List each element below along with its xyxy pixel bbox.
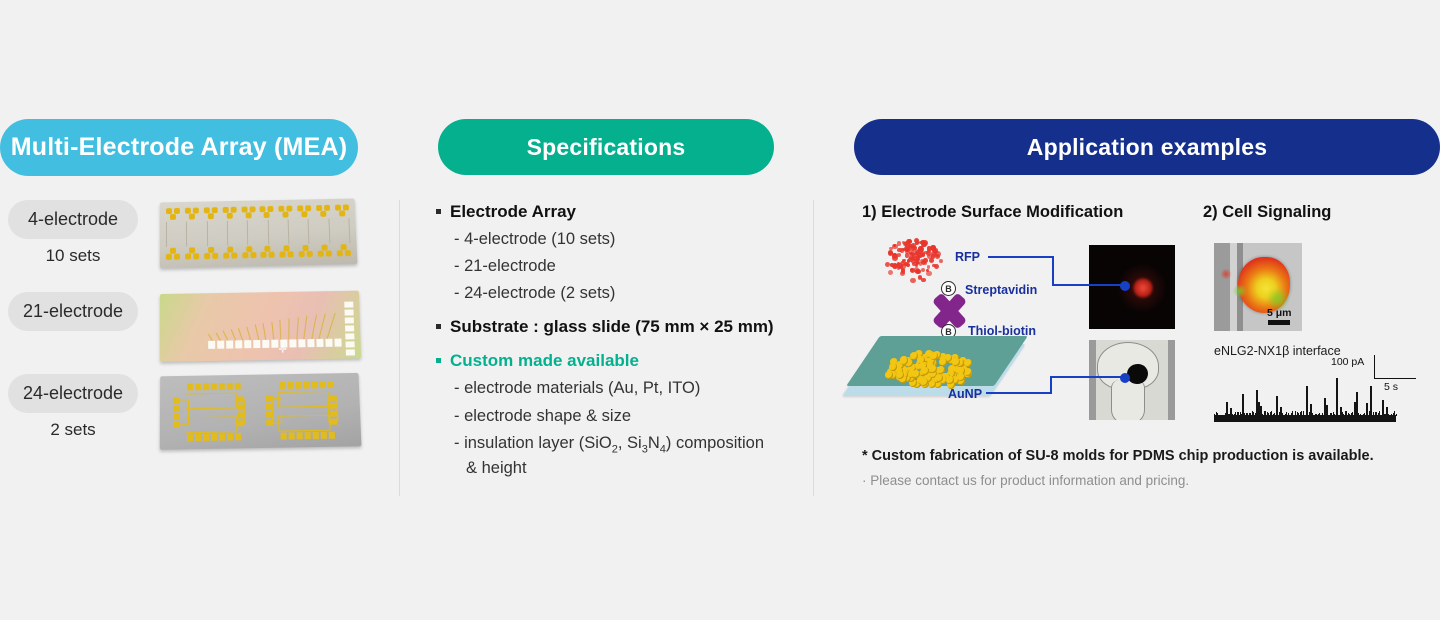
product-info-page: Multi-Electrode Array (MEA) Specificatio… [0, 0, 1440, 620]
column-divider-right [813, 200, 814, 496]
spec-item-insulation: - insulation layer (SiO2, Si3N4) composi… [454, 433, 806, 457]
leader-line [1050, 376, 1126, 378]
mea-variant-row: 4-electrode 10 sets [0, 200, 380, 266]
leader-line [988, 256, 1054, 258]
leader-line [986, 392, 1052, 394]
label-aunp: AuNP [948, 387, 982, 401]
scale-label-time: 5 s [1384, 381, 1398, 393]
mea-variant-tag: 21-electrode [8, 292, 138, 331]
spec-group-heading: Substrate : glass slide (75 mm × 25 mm) [436, 317, 806, 337]
mea-variant-sets: 2 sets [8, 420, 138, 440]
bullet-square-icon [436, 209, 441, 214]
mea-variant-tag: 24-electrode [8, 374, 138, 413]
leader-line [1050, 376, 1052, 394]
bullet-square-icon [436, 324, 441, 329]
spec-heading-text: Electrode Array [450, 202, 576, 222]
fluorescence-red-spot-image [1089, 245, 1175, 329]
mea-chip-24-electrode-photo [160, 374, 360, 448]
leader-line [1052, 284, 1126, 286]
spec-item: - electrode materials (Au, Pt, ITO) [454, 378, 806, 398]
sem-electrode-tip-image [1089, 340, 1175, 420]
spec-item: - 24-electrode (2 sets) [454, 283, 806, 303]
spec-heading-text: Substrate : glass slide (75 mm × 25 mm) [450, 317, 774, 337]
application-example-2-title: 2) Cell Signaling [1203, 203, 1331, 222]
spec-group-heading: Electrode Array [436, 202, 806, 222]
mea-variant-tag: 4-electrode [8, 200, 138, 239]
trace-scale-bar-icon [1374, 355, 1416, 379]
rfp-protein-icon [882, 238, 944, 284]
leader-endpoint-dot [1120, 373, 1130, 383]
section-header-specifications: Specifications [438, 119, 774, 175]
streptavidin-icon [930, 294, 968, 328]
section-header-mea: Multi-Electrode Array (MEA) [0, 119, 358, 176]
footnote-contact: · Please contact us for product informat… [862, 473, 1189, 488]
leader-line [1052, 256, 1054, 286]
scalebar-label-micrometers: 5 μm [1267, 307, 1292, 319]
trace-title: eNLG2-NX1β interface [1214, 344, 1341, 358]
mea-variant-row: 21-electrode ✛ [0, 292, 380, 338]
footnote-custom-fabrication: * Custom fabrication of SU-8 molds for P… [862, 448, 1374, 464]
gold-nanoparticle-cluster-icon [884, 350, 976, 392]
application-example-1-title: 1) Electrode Surface Modification [862, 203, 1123, 222]
column-divider-left [399, 200, 400, 496]
label-rfp: RFP [955, 250, 980, 264]
bullet-square-icon [436, 358, 441, 363]
scale-label-current: 100 pA [1331, 356, 1364, 368]
mea-chip-21-electrode-photo: ✛ [160, 292, 360, 360]
leader-endpoint-dot [1120, 281, 1130, 291]
spec-item: - 21-electrode [454, 256, 806, 276]
mea-chip-4-electrode-photo [160, 200, 356, 266]
spec-item-insulation-cont: & height [466, 458, 806, 478]
specifications-list: Electrode Array - 4-electrode (10 sets) … [436, 202, 806, 478]
mea-variant-row: 24-electrode 2 sets [0, 374, 380, 440]
label-streptavidin: Streptavidin [965, 283, 1037, 297]
spec-heading-text: Custom made available [450, 351, 639, 371]
spec-item: - electrode shape & size [454, 406, 806, 426]
scalebar-icon [1268, 320, 1290, 325]
section-header-application-examples: Application examples [854, 119, 1440, 175]
mea-variant-sets: 10 sets [8, 246, 138, 266]
spec-group-heading-custom: Custom made available [436, 351, 806, 371]
spec-item: - 4-electrode (10 sets) [454, 229, 806, 249]
